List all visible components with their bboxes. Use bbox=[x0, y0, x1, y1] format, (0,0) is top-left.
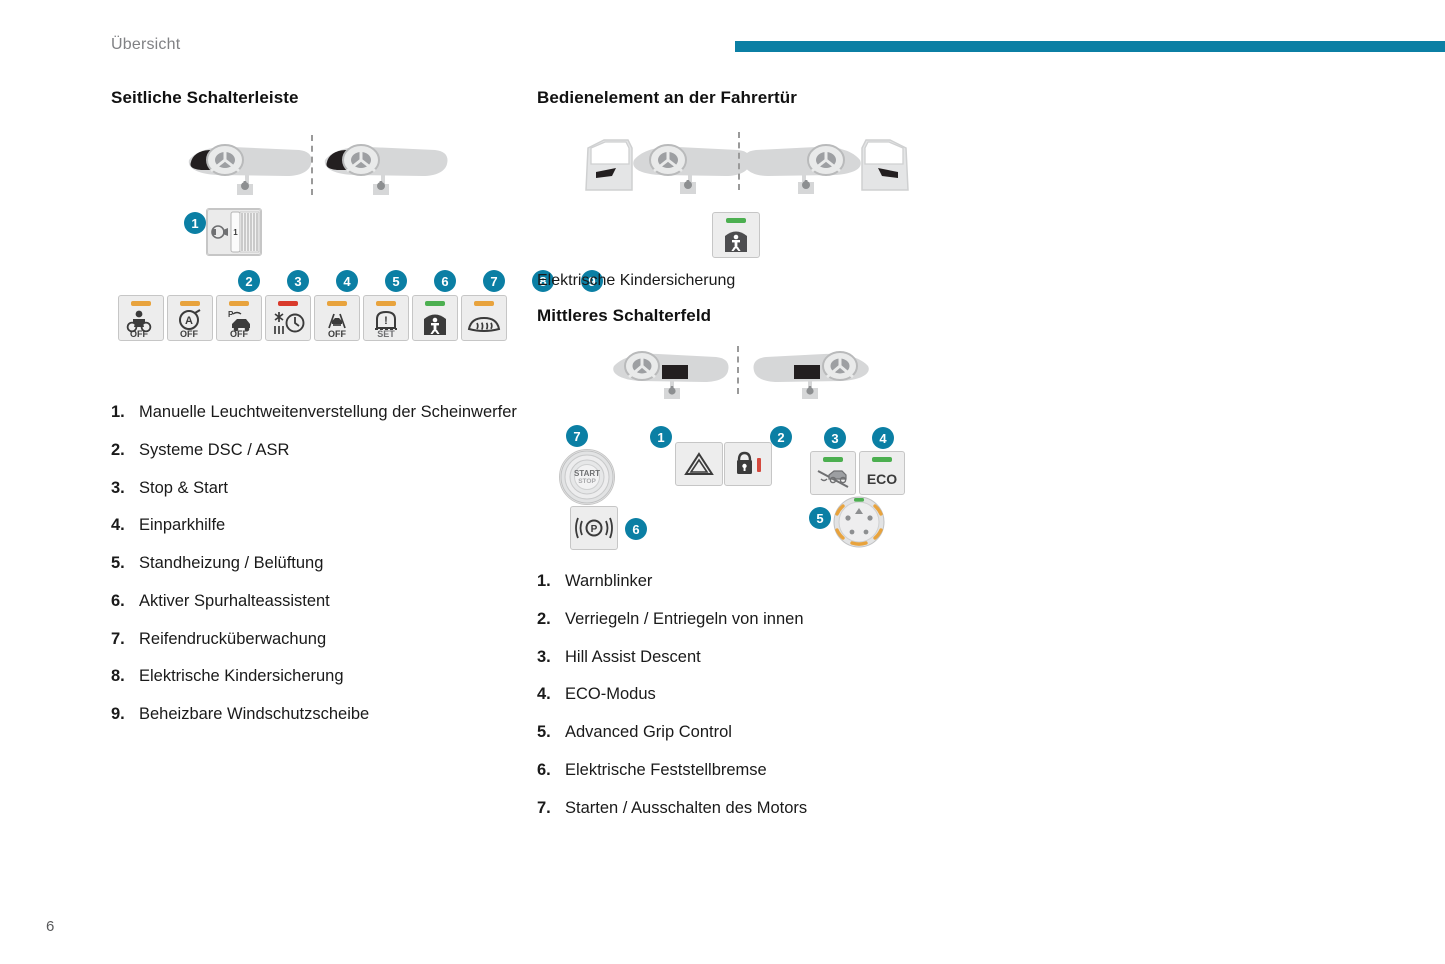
left-column: Seitliche Schalterleiste bbox=[111, 88, 521, 742]
lane-keeping-assist-off-icon: OFF bbox=[315, 306, 359, 340]
list-item: 5. Standheizung / Belüftung bbox=[111, 553, 521, 575]
key-headlight-levelling-wheel[interactable]: 1 bbox=[206, 208, 262, 256]
list-item-label: Elektrische Kindersicherung bbox=[139, 666, 521, 688]
key-central-locking[interactable] bbox=[724, 442, 772, 486]
list-item-number: 5. bbox=[111, 553, 139, 575]
electric-child-lock-icon bbox=[413, 306, 457, 340]
list-item: 7. Reifendrucküberwachung bbox=[111, 629, 521, 651]
badge-5: 5 bbox=[809, 507, 831, 529]
list-item-label: Reifendrucküberwachung bbox=[139, 629, 521, 651]
badge-2: 2 bbox=[238, 270, 260, 292]
centre-section-title: Mittleres Schalterfeld bbox=[537, 306, 957, 326]
hill-assist-descent-icon bbox=[811, 462, 855, 494]
badge-4: 4 bbox=[336, 270, 358, 292]
page-number: 6 bbox=[46, 918, 54, 935]
heated-windscreen-icon bbox=[462, 306, 506, 340]
park-assist-off-icon: P OFF bbox=[217, 306, 261, 340]
list-item-number: 1. bbox=[537, 571, 565, 593]
list-item: 4. Einparkhilfe bbox=[111, 515, 521, 537]
badge-1: 1 bbox=[650, 426, 672, 448]
svg-text:ECO: ECO bbox=[867, 471, 897, 487]
left-section-title: Seitliche Schalterleiste bbox=[111, 88, 521, 108]
centre-dashboard-lhd-illustration bbox=[612, 348, 730, 400]
list-item: 8. Elektrische Kindersicherung bbox=[111, 666, 521, 688]
list-item: 3. Stop & Start bbox=[111, 478, 521, 500]
list-item: 7. Starten / Ausschalten des Motors bbox=[537, 798, 957, 820]
badge-1: 1 bbox=[184, 212, 206, 234]
header-rule bbox=[735, 41, 1445, 52]
list-item-number: 3. bbox=[537, 647, 565, 669]
badge-7: 7 bbox=[566, 425, 588, 447]
key-advanced-grip-control-dial[interactable] bbox=[833, 496, 885, 548]
svg-text:!: ! bbox=[384, 315, 388, 327]
side-switch-panel-diagram: 1 1 bbox=[111, 130, 521, 380]
list-item: 4. ECO-Modus bbox=[537, 684, 957, 706]
list-item-label: Manuelle Leuchtweitenverstellung der Sch… bbox=[139, 402, 521, 424]
key-hill-assist-descent[interactable] bbox=[810, 451, 856, 495]
dsc-asr-off-icon: OFF bbox=[119, 306, 163, 340]
key-stop-start-off[interactable]: A OFF bbox=[167, 295, 213, 341]
advanced-grip-control-dial-icon bbox=[833, 496, 885, 548]
key-park-assist-off[interactable]: P OFF bbox=[216, 295, 262, 341]
svg-text:OFF: OFF bbox=[230, 329, 248, 338]
centre-switch-panel-diagram: 7 START STOP P bbox=[537, 344, 957, 559]
key-start-stop-engine-button[interactable]: START STOP bbox=[559, 449, 615, 505]
list-item-number: 7. bbox=[111, 629, 139, 651]
door-section-title: Bedienelement an der Fahrertür bbox=[537, 88, 957, 108]
svg-text:P: P bbox=[591, 524, 598, 535]
list-item-label: Stop & Start bbox=[139, 478, 521, 500]
headlight-levelling-wheel-icon: 1 bbox=[207, 209, 261, 255]
left-legend-list: 1. Manuelle Leuchtweitenverstellung der … bbox=[111, 402, 521, 726]
svg-text:OFF: OFF bbox=[130, 329, 148, 338]
list-item-number: 1. bbox=[111, 402, 139, 424]
svg-text:1: 1 bbox=[233, 228, 238, 237]
manual-page: Übersicht Seitliche Schalterleiste bbox=[0, 0, 1445, 964]
key-auxiliary-heating-timer[interactable] bbox=[265, 295, 311, 341]
door-section-caption: Elektrische Kindersicherung bbox=[537, 272, 957, 290]
badge-2: 2 bbox=[770, 426, 792, 448]
badge-3: 3 bbox=[824, 427, 846, 449]
centre-legend-list: 1. Warnblinker 2. Verriegeln / Entriegel… bbox=[537, 571, 957, 819]
start-stop-engine-button-icon: START STOP bbox=[560, 450, 614, 504]
svg-text:A: A bbox=[185, 315, 193, 327]
list-item-number: 5. bbox=[537, 722, 565, 744]
badge-5: 5 bbox=[385, 270, 407, 292]
centre-dashboard-rhd-illustration bbox=[752, 348, 870, 400]
list-item: 5. Advanced Grip Control bbox=[537, 722, 957, 744]
list-item: 6. Aktiver Spurhalteassistent bbox=[111, 591, 521, 613]
badge-3: 3 bbox=[287, 270, 309, 292]
svg-text:START: START bbox=[574, 469, 600, 478]
key-electric-child-lock-door[interactable] bbox=[712, 212, 760, 258]
key-electric-parking-brake[interactable]: P bbox=[570, 506, 618, 550]
electric-parking-brake-icon: P bbox=[574, 515, 614, 541]
diagram-divider bbox=[737, 346, 739, 394]
key-heated-windscreen[interactable] bbox=[461, 295, 507, 341]
electric-child-lock-icon bbox=[713, 223, 759, 257]
list-item-label: Warnblinker bbox=[565, 571, 957, 593]
key-lane-keeping-assist-off[interactable]: OFF bbox=[314, 295, 360, 341]
svg-text:SET: SET bbox=[377, 329, 395, 338]
list-item-number: 2. bbox=[537, 609, 565, 631]
hazard-warning-light-icon bbox=[683, 450, 715, 478]
badge-6: 6 bbox=[434, 270, 456, 292]
dashboard-rhd-illustration bbox=[323, 138, 451, 196]
list-item-number: 6. bbox=[111, 591, 139, 613]
list-item-label: Beheizbare Windschutzscheibe bbox=[139, 704, 521, 726]
key-electric-child-lock[interactable] bbox=[412, 295, 458, 341]
svg-text:OFF: OFF bbox=[328, 329, 346, 338]
list-item-number: 9. bbox=[111, 704, 139, 726]
door-dashboard-rhd-illustration bbox=[742, 134, 912, 196]
list-item-label: Elektrische Feststellbremse bbox=[565, 760, 957, 782]
list-item-number: 2. bbox=[111, 440, 139, 462]
list-item-label: Systeme DSC / ASR bbox=[139, 440, 521, 462]
list-item-number: 8. bbox=[111, 666, 139, 688]
right-column: Bedienelement an der Fahrertür bbox=[537, 88, 957, 835]
diagram-divider bbox=[738, 132, 740, 190]
eco-mode-icon: ECO bbox=[860, 462, 904, 494]
list-item-label: Verriegeln / Entriegeln von innen bbox=[565, 609, 957, 631]
key-tyre-pressure-set[interactable]: ! SET bbox=[363, 295, 409, 341]
section-breadcrumb: Übersicht bbox=[111, 36, 180, 54]
list-item-number: 6. bbox=[537, 760, 565, 782]
list-item: 1. Manuelle Leuchtweitenverstellung der … bbox=[111, 402, 521, 424]
key-eco-mode[interactable]: ECO bbox=[859, 451, 905, 495]
list-item: 2. Verriegeln / Entriegeln von innen bbox=[537, 609, 957, 631]
list-item-label: Starten / Ausschalten des Motors bbox=[565, 798, 957, 820]
badge-6: 6 bbox=[625, 518, 647, 540]
badge-4: 4 bbox=[872, 427, 894, 449]
key-dsc-asr-off[interactable]: OFF bbox=[118, 295, 164, 341]
key-hazard-warning-light[interactable] bbox=[675, 442, 723, 486]
list-item-number: 4. bbox=[537, 684, 565, 706]
list-item: 9. Beheizbare Windschutzscheibe bbox=[111, 704, 521, 726]
list-item: 1. Warnblinker bbox=[537, 571, 957, 593]
dashboard-lhd-illustration bbox=[187, 138, 315, 196]
list-item-label: Standheizung / Belüftung bbox=[139, 553, 521, 575]
tyre-pressure-set-icon: ! SET bbox=[364, 306, 408, 340]
central-locking-icon bbox=[730, 450, 766, 478]
list-item: 6. Elektrische Feststellbremse bbox=[537, 760, 957, 782]
list-item-number: 4. bbox=[111, 515, 139, 537]
stop-start-off-icon: A OFF bbox=[168, 306, 212, 340]
door-dashboard-lhd-illustration bbox=[582, 134, 752, 196]
list-item-label: ECO-Modus bbox=[565, 684, 957, 706]
list-item-label: Einparkhilfe bbox=[139, 515, 521, 537]
list-item: 2. Systeme DSC / ASR bbox=[111, 440, 521, 462]
list-item-number: 7. bbox=[537, 798, 565, 820]
list-item-label: Advanced Grip Control bbox=[565, 722, 957, 744]
list-item-number: 3. bbox=[111, 478, 139, 500]
list-item-label: Aktiver Spurhalteassistent bbox=[139, 591, 521, 613]
driver-door-control-diagram bbox=[537, 130, 957, 266]
badge-7: 7 bbox=[483, 270, 505, 292]
svg-text:STOP: STOP bbox=[578, 478, 596, 485]
diagram-divider bbox=[311, 135, 313, 195]
svg-text:P: P bbox=[228, 310, 234, 319]
list-item: 3. Hill Assist Descent bbox=[537, 647, 957, 669]
list-item-label: Hill Assist Descent bbox=[565, 647, 957, 669]
auxiliary-heating-timer-icon bbox=[266, 306, 310, 340]
svg-text:OFF: OFF bbox=[180, 329, 198, 338]
